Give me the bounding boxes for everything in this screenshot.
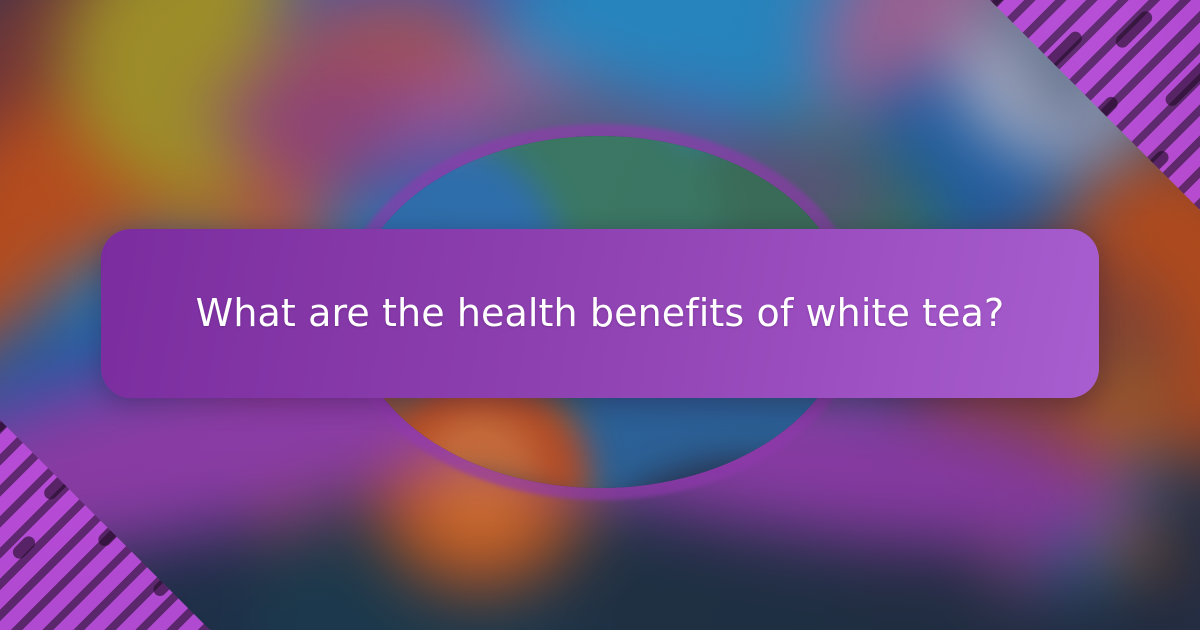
question-card[interactable]: What are the health benefits of white te… bbox=[101, 229, 1099, 398]
social-card-canvas: What are the health benefits of white te… bbox=[0, 0, 1200, 630]
question-title: What are the health benefits of white te… bbox=[196, 291, 1005, 337]
